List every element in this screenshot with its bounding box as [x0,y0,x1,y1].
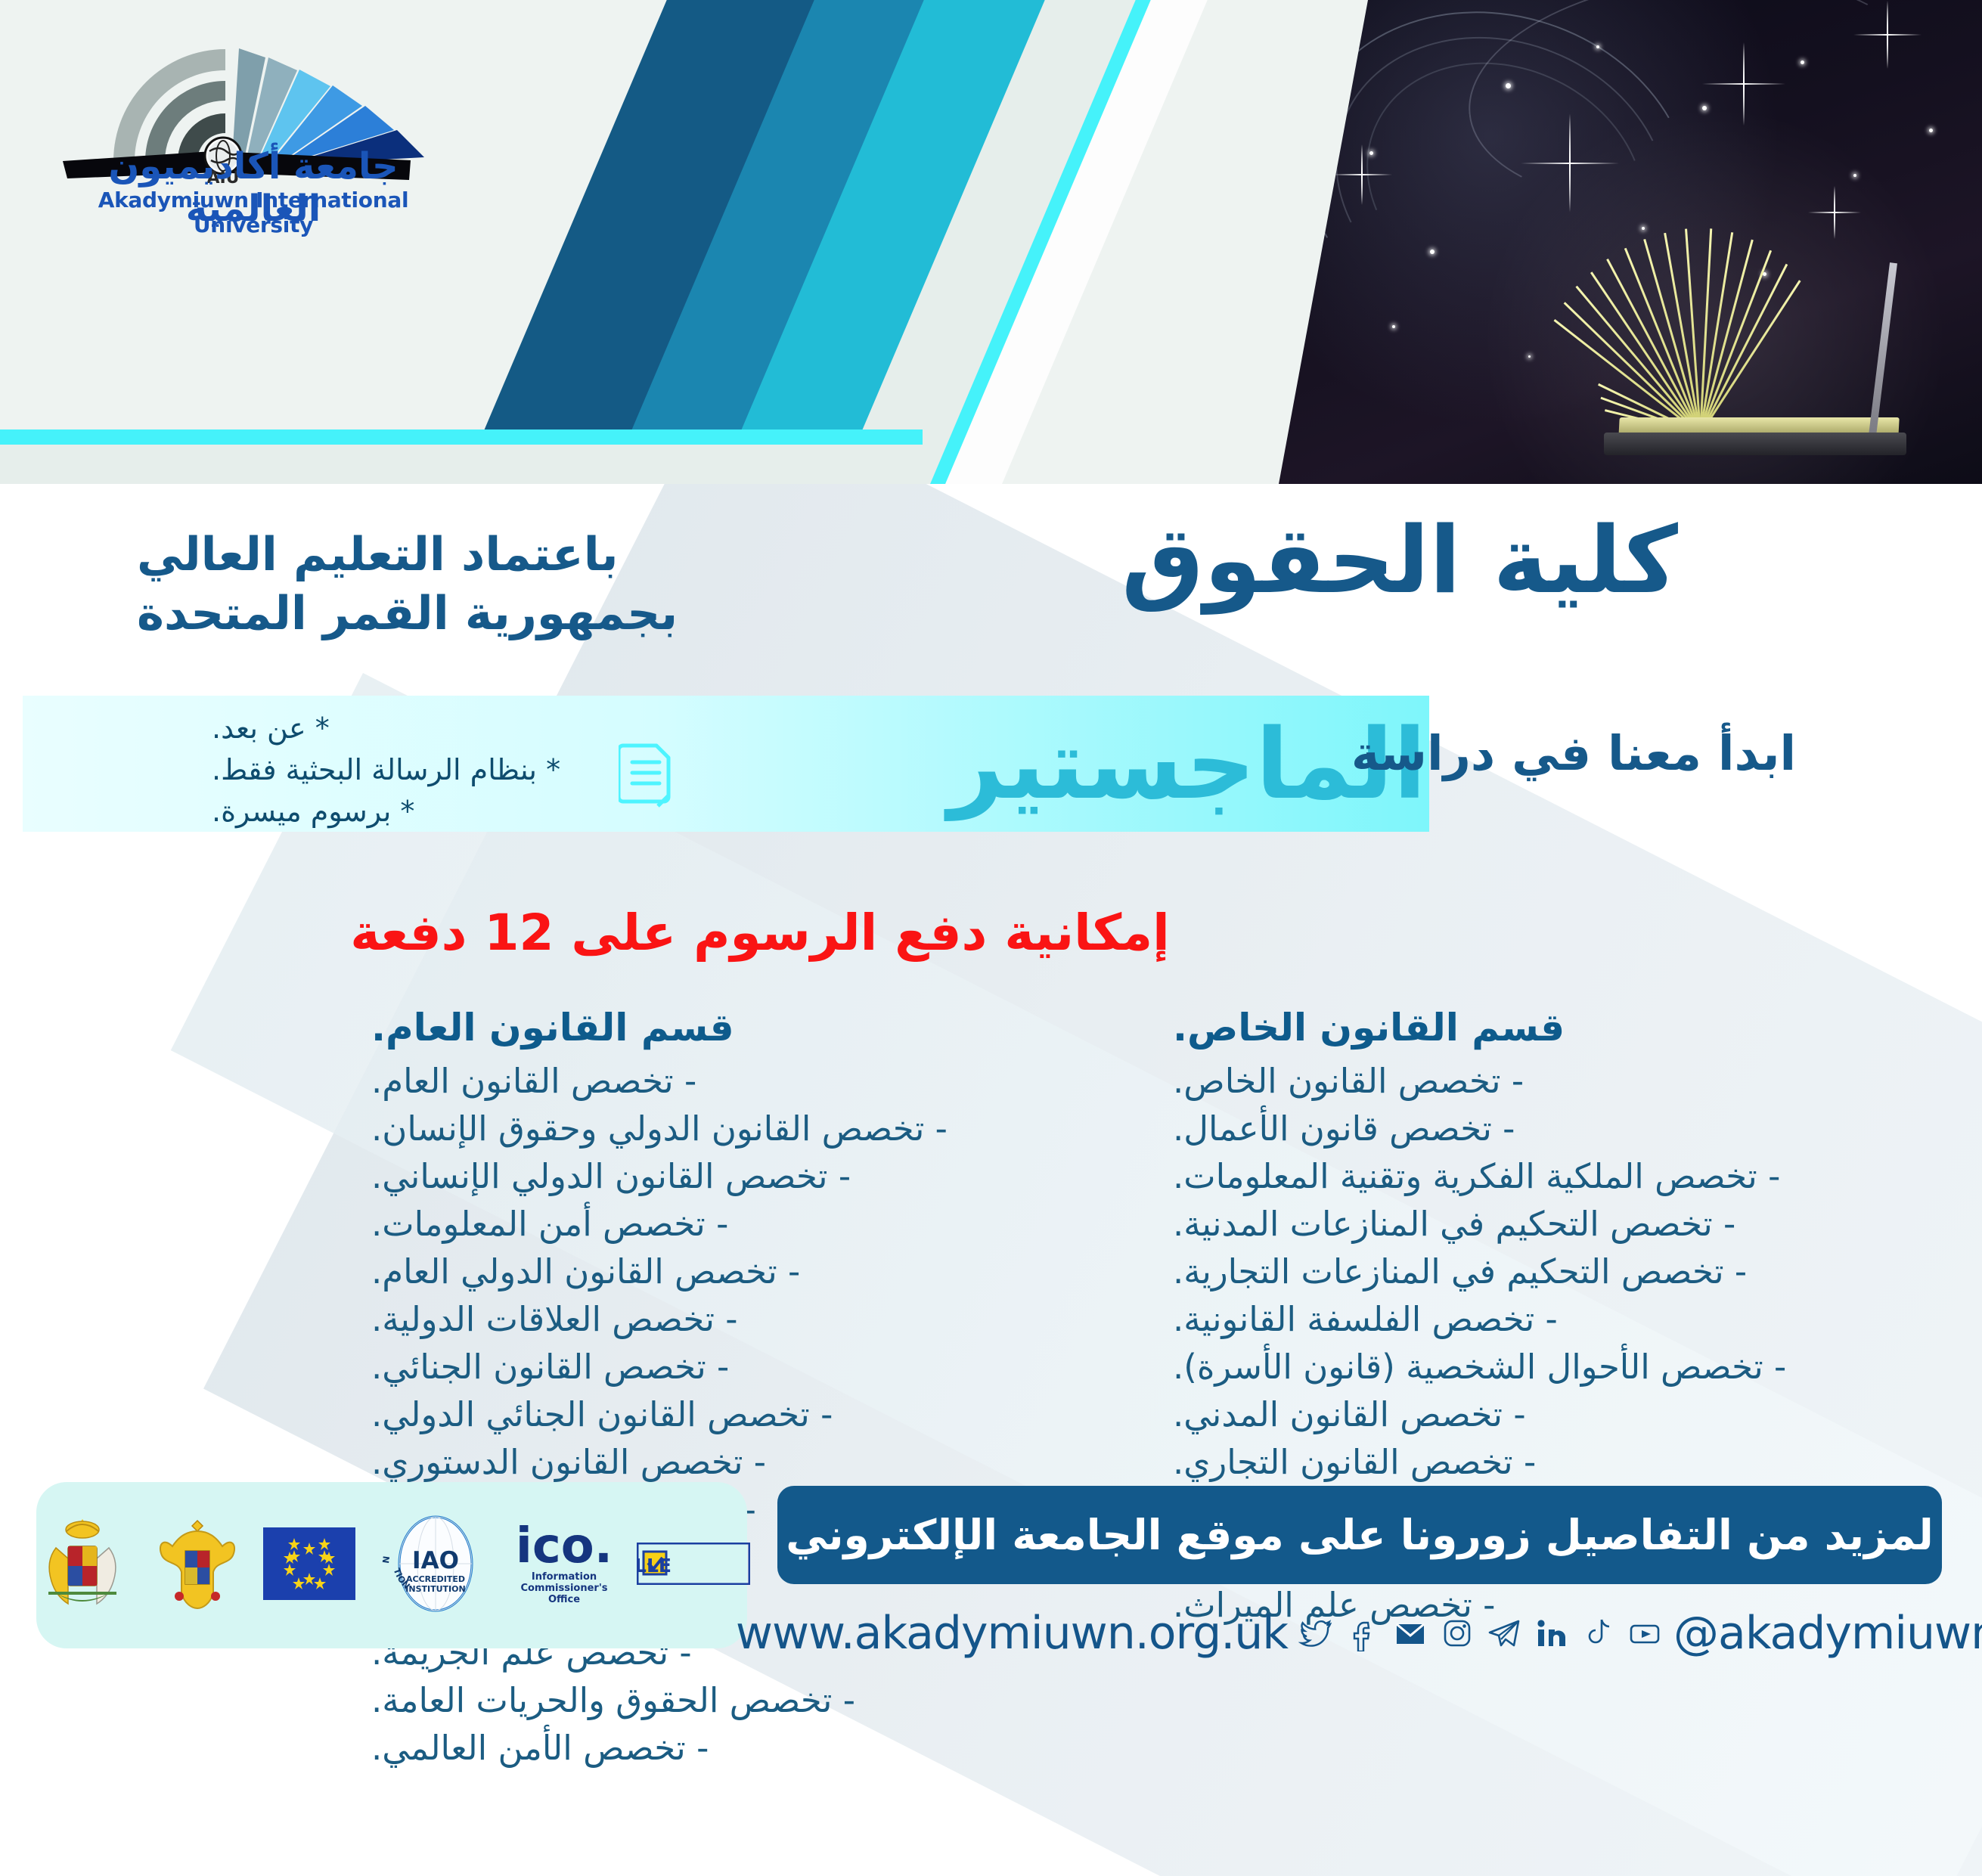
ico-badge-label: ico. [516,1525,613,1569]
master-features-list: * عن بعد. * بنظام الرسالة البحثية فقط. *… [212,708,635,833]
accreditation-line-2: بجمهورية القمر المتحدة [137,585,681,643]
uk-royal-coat-of-arms-badge [33,1515,132,1616]
youtube-icon[interactable] [1627,1615,1663,1651]
ico-badge: ico. Information Commissioner's Office [516,1525,613,1606]
specialty-item: - تخصص القانون الخاص. [1173,1057,1937,1105]
twitter-icon[interactable] [1298,1615,1335,1651]
specialty-item: - تخصص الحقوق والحريات العامة. [371,1676,1135,1724]
specialty-item: - تخصص القانون الجنائي. [371,1343,1135,1391]
ico-badge-sub: Information Commissioner's Office [516,1571,613,1605]
department-heading: قسم القانون الخاص. [1173,1006,1937,1050]
open-book-photo [1279,0,1982,484]
master-feature-item: * عن بعد. [212,708,635,749]
master-feature-item: * بنظام الرسالة البحثية فقط. [212,749,635,791]
specialty-item: - تخصص الأحوال الشخصية (قانون الأسرة). [1173,1343,1937,1391]
romania-coat-of-arms-badge [156,1515,239,1616]
iao-badge: IAO ACCREDITED INSTITUTION INTERNATIONAL… [380,1508,492,1623]
email-icon[interactable] [1392,1615,1428,1651]
installments-note: إمكانية دفع الرسوم على 12 دفعة [0,904,1520,962]
svg-text:INTERNATIONAL ACCREDITATION: INTERNATIONAL ACCREDITATION [380,1508,392,1564]
contact-row: www.akadymiuwn.org.uk @akadymiuwn [777,1595,1957,1671]
specialty-item: - تخصص القانون الدولي وحقوق الإنسان. [371,1105,1135,1152]
poster-body: باعتماد التعليم العالي بجمهورية القمر ال… [0,484,1982,1876]
website-url[interactable]: www.akadymiuwn.org.uk [736,1607,1288,1660]
master-feature-item: * برسوم ميسرة. [212,791,635,833]
start-study-line: ابدأ معنا في دراسة [1301,726,1846,781]
linkedin-icon[interactable] [1533,1615,1569,1651]
social-handle[interactable]: @akadymiuwn [1673,1607,1982,1660]
cta-label: لمزيد من التفاصيل زورونا على موقع الجامع… [786,1511,1934,1559]
svg-text:IAO: IAO [412,1547,459,1574]
specialty-item: - تخصص الفلسفة القانونية. [1173,1295,1937,1343]
facebook-icon[interactable] [1345,1615,1382,1651]
specialty-item: - تخصص أمن المعلومات. [371,1200,1135,1248]
instagram-icon[interactable] [1439,1615,1475,1651]
accreditation-line-1: باعتماد التعليم العالي [137,526,681,585]
specialty-item: - تخصص القانون الجنائي الدولي. [371,1391,1135,1438]
specialty-item: - تخصص التحكيم في المنازعات التجارية. [1173,1248,1937,1295]
header-banner: AIU جامعة أكاديميون العالمية Akadymiuwn … [0,0,1982,484]
specialty-item: - تخصص قانون الأعمال. [1173,1105,1937,1152]
page-title: كلية الحقوق [954,507,1846,614]
specialty-item: - تخصص الأمن العالمي. [371,1724,1135,1772]
cta-banner[interactable]: لمزيد من التفاصيل زورونا على موقع الجامع… [777,1486,1942,1584]
accreditation-badges: APOSTILLE ico. Information Commissioner'… [36,1482,747,1648]
svg-text:APOSTILLE: APOSTILLE [637,1555,672,1577]
apostille-badge: APOSTILLE [637,1543,750,1588]
specialty-item: - تخصص القانون التجاري. [1173,1438,1937,1486]
specialty-item: - تخصص القانون الدولي الإنساني. [371,1152,1135,1200]
ribbon-bottom-neon [0,429,923,445]
university-logo: AIU جامعة أكاديميون العالمية Akadymiuwn … [42,15,465,212]
document-icon [619,741,673,814]
book-cover [1869,262,1897,436]
accreditation-note: باعتماد التعليم العالي بجمهورية القمر ال… [137,526,681,643]
svg-text:ACCREDITED: ACCREDITED [406,1574,465,1584]
specialty-item: - تخصص القانون المدني. [1173,1391,1937,1438]
specialty-item: - تخصص الملكية الفكرية وتقنية المعلومات. [1173,1152,1937,1200]
specialty-item: - تخصص القانون الدستوري. [371,1438,1135,1486]
eu-flag-badge [263,1527,355,1603]
tiktok-icon[interactable] [1580,1615,1616,1651]
specialty-item: - تخصص التحكيم في المنازعات المدنية. [1173,1200,1937,1248]
specialty-item: - تخصص العلاقات الدولية. [371,1295,1135,1343]
ribbon-bottom-pale [0,445,870,484]
logo-name-en: Akadymiuwn International University [42,188,465,237]
telegram-icon[interactable] [1486,1615,1522,1651]
specialty-item: - تخصص القانون العام. [371,1057,1135,1105]
book-graphic [1506,219,1929,469]
svg-text:INSTITUTION: INSTITUTION [405,1584,465,1594]
specialty-item: - تخصص القانون الدولي العام. [371,1248,1135,1295]
department-heading: قسم القانون العام. [371,1006,1135,1050]
book-base [1604,433,1906,455]
